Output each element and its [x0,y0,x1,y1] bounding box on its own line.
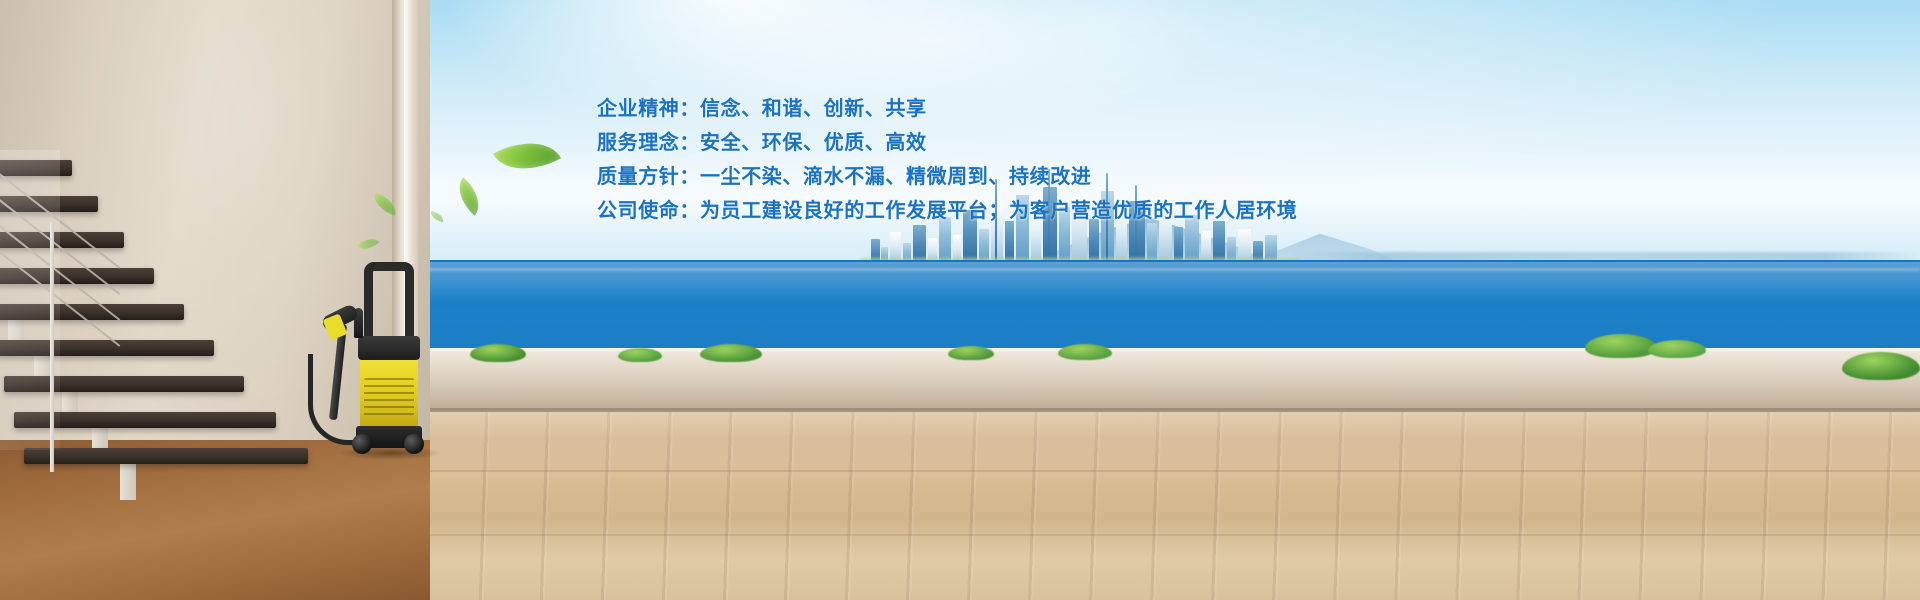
pressure-washer [312,258,432,458]
shrub-icon [1058,344,1112,360]
slogan-list: 企业精神：信念、和谐、创新、共享服务理念：安全、环保、优质、高效质量方针：一尘不… [597,92,1497,228]
hero-banner: 企业精神：信念、和谐、创新、共享服务理念：安全、环保、优质、高效质量方针：一尘不… [0,0,1920,600]
slogan-line: 服务理念：安全、环保、优质、高效 [597,126,1497,160]
stair-tread [24,448,308,464]
pressure-washer-handle [364,262,414,346]
shrub-icon [618,348,662,362]
shrub-icon [700,344,762,362]
pressure-washer-wheel-right [404,434,424,454]
wood-floor-left [0,440,430,600]
shrub-icon [470,344,526,362]
ocean-horizon-band [410,268,1920,271]
shrub-icon [1842,352,1920,380]
pressure-washer-vents [364,378,414,418]
shrub-icon [948,346,994,360]
slogan-line: 公司使命：为员工建设良好的工作发展平台；为客户营造优质的工作人居环境 [597,194,1497,228]
shrub-icon [1648,340,1706,358]
pressure-washer-wheel-left [352,434,372,454]
railing-post [50,222,54,472]
shrub-icon [1585,334,1657,358]
floor-reflection [430,412,1920,600]
slogan-line: 企业精神：信念、和谐、创新、共享 [597,92,1497,126]
slogan-line: 质量方针：一尘不染、滴水不漏、精微周到、持续改进 [597,160,1497,194]
